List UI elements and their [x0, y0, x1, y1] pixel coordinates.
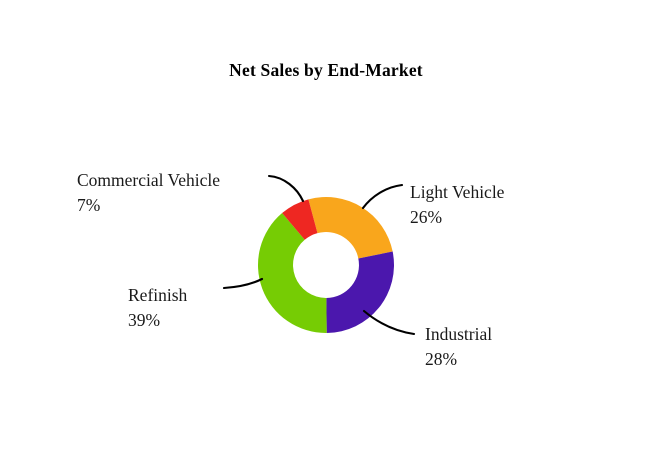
slice-label-commercial-vehicle-value: 7% [77, 193, 220, 218]
slice-label-light-vehicle: Light Vehicle 26% [410, 180, 504, 230]
chart-figure: Net Sales by End-Market Commercial Vehic… [0, 0, 652, 474]
leader-line-commercial-vehicle [269, 176, 303, 201]
slice-label-refinish-value: 39% [128, 308, 187, 333]
slice-light-vehicle[interactable] [308, 197, 392, 258]
slice-label-industrial-name: Industrial [425, 322, 492, 347]
slice-label-industrial-value: 28% [425, 347, 492, 372]
slice-label-refinish: Refinish 39% [128, 283, 187, 333]
slice-label-refinish-name: Refinish [128, 283, 187, 308]
slice-label-light-vehicle-value: 26% [410, 205, 504, 230]
slice-label-commercial-vehicle-name: Commercial Vehicle [77, 168, 220, 193]
donut-chart-svg [0, 0, 652, 474]
slice-industrial[interactable] [326, 252, 394, 333]
leader-line-light-vehicle [363, 185, 402, 208]
slice-label-commercial-vehicle: Commercial Vehicle 7% [77, 168, 220, 218]
slice-label-light-vehicle-name: Light Vehicle [410, 180, 504, 205]
donut-slices [258, 197, 394, 333]
slice-label-industrial: Industrial 28% [425, 322, 492, 372]
leader-line-refinish [224, 279, 262, 288]
